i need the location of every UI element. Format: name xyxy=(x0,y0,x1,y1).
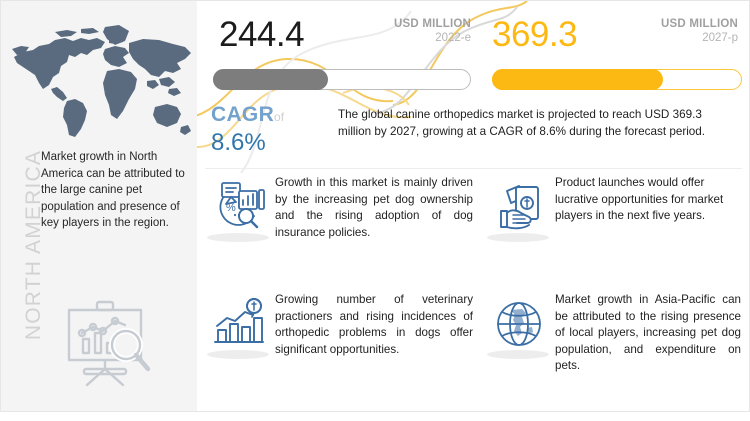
globe-icon xyxy=(489,294,549,354)
content-panel: 244.4 USD MILLION 2022-e 369.3 USD MILLI… xyxy=(197,1,750,411)
infographic-card: NORTH AMERICA xyxy=(0,0,750,412)
cagr-label: CAGR xyxy=(211,103,274,126)
bar-chart-growth-dollar-icon xyxy=(209,294,269,354)
summary-text: The global canine orthopedics market is … xyxy=(338,107,736,140)
stat-progress-track xyxy=(492,69,742,90)
sidebar-region-panel: NORTH AMERICA xyxy=(1,1,197,411)
insight-card-text: Product launches would offer lucrative o… xyxy=(555,175,741,225)
stat-progress-fill xyxy=(213,69,328,90)
section-divider xyxy=(205,168,742,169)
insight-cards: % Growth in this xyxy=(197,173,750,409)
cagr-label-row: CAGRof xyxy=(211,104,346,128)
stat-unit: USD MILLION 2022-e xyxy=(394,17,471,46)
insight-card-text: Growth in this market is mainly driven b… xyxy=(275,175,473,241)
cagr-of-label: of xyxy=(274,110,284,124)
insight-card-text: Market growth in Asia-Pacific can be att… xyxy=(555,292,741,375)
stat-unit-line1: USD MILLION xyxy=(394,17,471,31)
world-map-icon xyxy=(9,19,195,141)
insight-card: Growing number of veterinary practioners… xyxy=(203,290,481,405)
cagr-block: CAGRof 8.6% xyxy=(211,104,346,156)
stat-unit-line1: USD MILLION xyxy=(661,17,738,31)
stat-progress-track xyxy=(213,69,471,90)
presentation-chart-magnifier-icon xyxy=(53,297,163,389)
cagr-value: 8.6% xyxy=(211,129,346,156)
stat-unit: USD MILLION 2027-p xyxy=(661,17,738,46)
insight-card: % Growth in this xyxy=(203,173,481,288)
stat-unit-line2: 2027-p xyxy=(661,31,738,46)
insight-card: Product launches would offer lucrative o… xyxy=(483,173,745,288)
stat-value: 369.3 xyxy=(492,15,577,55)
insight-card-text: Growing number of veterinary practioners… xyxy=(275,292,473,358)
region-note-text: Market growth in North America can be at… xyxy=(41,149,191,232)
hand-holding-money-icon xyxy=(489,177,549,237)
stat-progress-fill xyxy=(492,69,663,90)
insight-card: Market growth in Asia-Pacific can be att… xyxy=(483,290,745,405)
stat-value: 244.4 xyxy=(219,15,304,55)
stat-unit-line2: 2022-e xyxy=(394,31,471,46)
pie-percent-report-chart-magnifier-icon: % xyxy=(209,177,269,237)
